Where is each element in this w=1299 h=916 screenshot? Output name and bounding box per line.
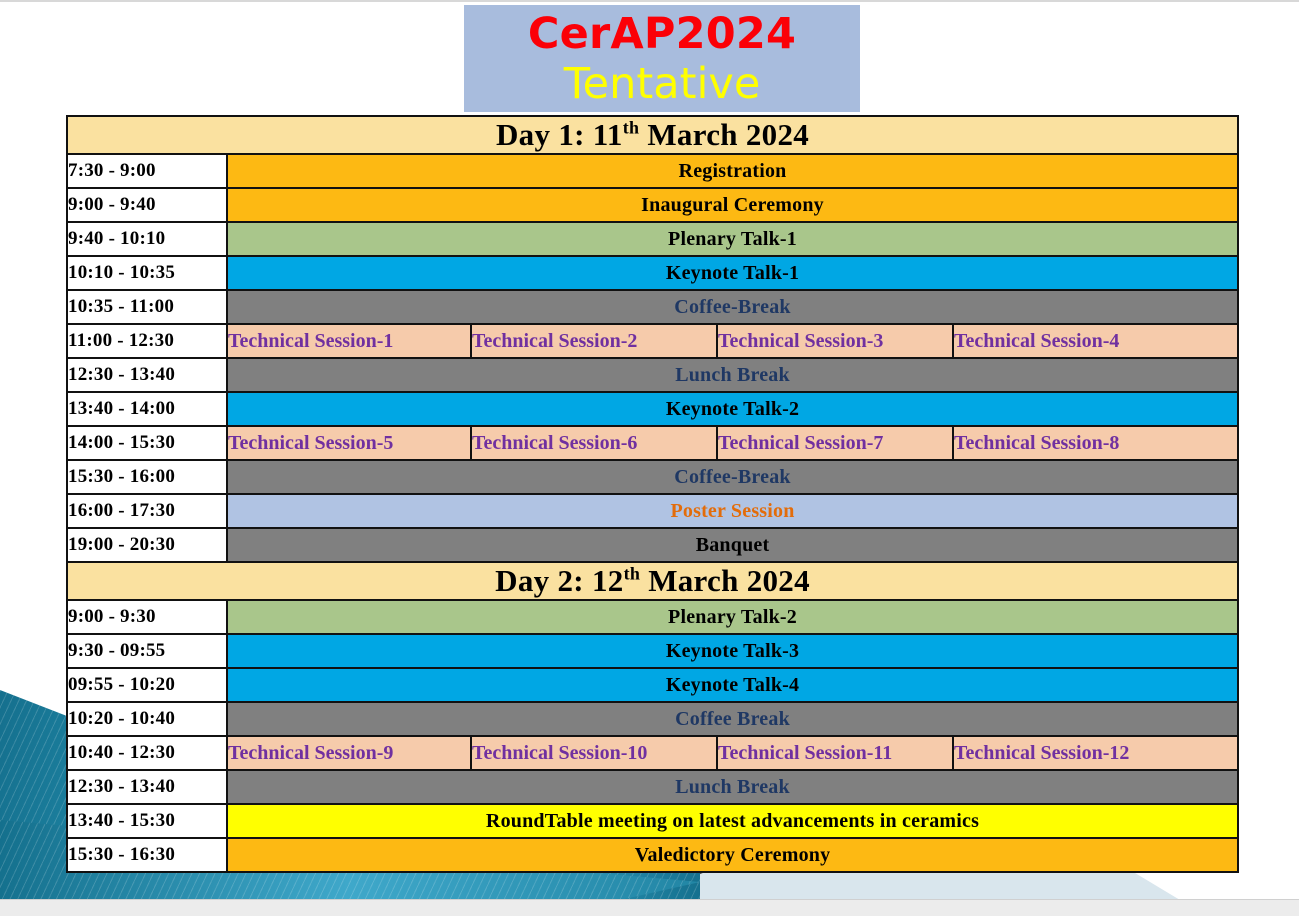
- schedule-row: 12:30 - 13:40Lunch Break: [67, 358, 1238, 392]
- time-cell: 9:00 - 9:30: [67, 600, 227, 634]
- time-cell: 16:00 - 17:30: [67, 494, 227, 528]
- event-cell: Inaugural Ceremony: [227, 188, 1238, 222]
- time-cell: 11:00 - 12:30: [67, 324, 227, 358]
- day-header-suffix: March 2024: [640, 563, 810, 598]
- schedule-row: 10:35 - 11:00Coffee-Break: [67, 290, 1238, 324]
- time-cell: 10:20 - 10:40: [67, 702, 227, 736]
- schedule-row: 10:40 - 12:30Technical Session-9Technica…: [67, 736, 1238, 770]
- day-header-prefix: Day 2: 12: [495, 563, 623, 598]
- day-header-suffix: March 2024: [639, 117, 809, 152]
- event-cell: Banquet: [227, 528, 1238, 562]
- day-header: Day 2: 12th March 2024: [67, 562, 1238, 600]
- technical-session-cell[interactable]: Technical Session-1: [227, 324, 471, 358]
- time-cell: 14:00 - 15:30: [67, 426, 227, 460]
- schedule-row: 9:30 - 09:55Keynote Talk-3: [67, 634, 1238, 668]
- slide-canvas: CerAP2024 Tentative Schedule Day 1: 11th…: [0, 0, 1299, 916]
- technical-session-cell[interactable]: Technical Session-5: [227, 426, 471, 460]
- page-bottom-margin: [0, 899, 1299, 916]
- day-header-row: Day 1: 11th March 2024: [67, 116, 1238, 154]
- event-cell: Keynote Talk-4: [227, 668, 1238, 702]
- technical-session-cell[interactable]: Technical Session-12: [953, 736, 1238, 770]
- schedule-row: 11:00 - 12:30Technical Session-1Technica…: [67, 324, 1238, 358]
- conference-name: CerAP2024: [464, 5, 860, 59]
- day-header-row: Day 2: 12th March 2024: [67, 562, 1238, 600]
- time-cell: 9:40 - 10:10: [67, 222, 227, 256]
- event-cell: Lunch Break: [227, 358, 1238, 392]
- time-cell: 7:30 - 9:00: [67, 154, 227, 188]
- schedule-row: 10:10 - 10:35Keynote Talk-1: [67, 256, 1238, 290]
- time-cell: 15:30 - 16:00: [67, 460, 227, 494]
- schedule-row: 9:00 - 9:30Plenary Talk-2: [67, 600, 1238, 634]
- schedule-row: 13:40 - 14:00Keynote Talk-2: [67, 392, 1238, 426]
- technical-session-cell[interactable]: Technical Session-11: [717, 736, 953, 770]
- technical-session-cell[interactable]: Technical Session-6: [471, 426, 717, 460]
- event-cell: Keynote Talk-1: [227, 256, 1238, 290]
- time-cell: 10:40 - 12:30: [67, 736, 227, 770]
- technical-session-cell[interactable]: Technical Session-2: [471, 324, 717, 358]
- schedule-row: 12:30 - 13:40Lunch Break: [67, 770, 1238, 804]
- schedule-row: 10:20 - 10:40Coffee Break: [67, 702, 1238, 736]
- day-header-ordinal: th: [624, 564, 641, 584]
- schedule-row: 9:40 - 10:10Plenary Talk-1: [67, 222, 1238, 256]
- event-cell: Coffee Break: [227, 702, 1238, 736]
- time-cell: 10:35 - 11:00: [67, 290, 227, 324]
- schedule-row: 14:00 - 15:30Technical Session-5Technica…: [67, 426, 1238, 460]
- time-cell: 9:00 - 9:40: [67, 188, 227, 222]
- technical-session-cell[interactable]: Technical Session-7: [717, 426, 953, 460]
- technical-session-cell[interactable]: Technical Session-10: [471, 736, 717, 770]
- time-cell: 9:30 - 09:55: [67, 634, 227, 668]
- day-header-prefix: Day 1: 11: [496, 117, 623, 152]
- event-cell: RoundTable meeting on latest advancement…: [227, 804, 1238, 838]
- schedule-row: 13:40 - 15:30RoundTable meeting on lates…: [67, 804, 1238, 838]
- event-cell: Poster Session: [227, 494, 1238, 528]
- day-header-ordinal: th: [623, 118, 640, 138]
- schedule-row: 7:30 - 9:00Registration: [67, 154, 1238, 188]
- event-cell: Keynote Talk-2: [227, 392, 1238, 426]
- schedule-row: 15:30 - 16:30Valedictory Ceremony: [67, 838, 1238, 872]
- technical-session-cell[interactable]: Technical Session-3: [717, 324, 953, 358]
- time-cell: 10:10 - 10:35: [67, 256, 227, 290]
- schedule-row: 16:00 - 17:30Poster Session: [67, 494, 1238, 528]
- time-cell: 09:55 - 10:20: [67, 668, 227, 702]
- event-cell: Plenary Talk-1: [227, 222, 1238, 256]
- event-cell: Valedictory Ceremony: [227, 838, 1238, 872]
- time-cell: 13:40 - 14:00: [67, 392, 227, 426]
- time-cell: 12:30 - 13:40: [67, 358, 227, 392]
- schedule-table: Day 1: 11th March 20247:30 - 9:00Registr…: [66, 115, 1239, 873]
- event-cell: Lunch Break: [227, 770, 1238, 804]
- time-cell: 15:30 - 16:30: [67, 838, 227, 872]
- time-cell: 12:30 - 13:40: [67, 770, 227, 804]
- schedule-row: 19:00 - 20:30Banquet: [67, 528, 1238, 562]
- schedule-row: 9:00 - 9:40Inaugural Ceremony: [67, 188, 1238, 222]
- title-banner: CerAP2024 Tentative Schedule: [464, 5, 860, 112]
- event-cell: Coffee-Break: [227, 290, 1238, 324]
- schedule-row: 15:30 - 16:00Coffee-Break: [67, 460, 1238, 494]
- technical-session-cell[interactable]: Technical Session-4: [953, 324, 1238, 358]
- event-cell: Coffee-Break: [227, 460, 1238, 494]
- event-cell: Keynote Talk-3: [227, 634, 1238, 668]
- event-cell: Registration: [227, 154, 1238, 188]
- technical-session-cell[interactable]: Technical Session-8: [953, 426, 1238, 460]
- technical-session-cell[interactable]: Technical Session-9: [227, 736, 471, 770]
- time-cell: 19:00 - 20:30: [67, 528, 227, 562]
- event-cell: Plenary Talk-2: [227, 600, 1238, 634]
- day-header: Day 1: 11th March 2024: [67, 116, 1238, 154]
- time-cell: 13:40 - 15:30: [67, 804, 227, 838]
- schedule-row: 09:55 - 10:20Keynote Talk-4: [67, 668, 1238, 702]
